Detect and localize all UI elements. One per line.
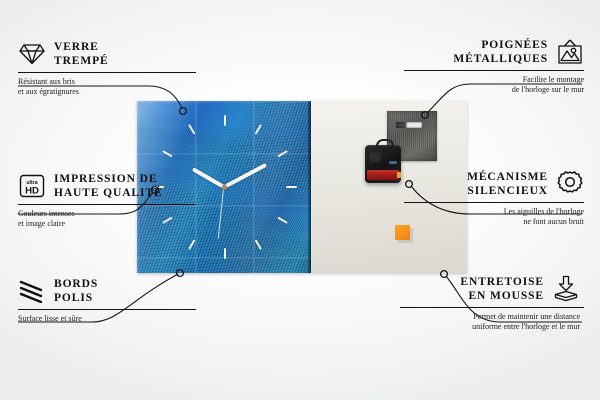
- mechanism-panel-detail: [370, 153, 381, 162]
- foam-spacer-arrow-icon: [552, 275, 580, 303]
- feature-header: POIGNÉES MÉTALLIQUES: [404, 38, 584, 66]
- gear-icon: [556, 170, 584, 198]
- feature-divider: [400, 307, 584, 308]
- feature-verre-trempe: VERRE TREMPÉ Résistant aux bris et aux é…: [18, 40, 198, 98]
- feature-poignees-metalliques: POIGNÉES MÉTALLIQUES Facilite le montage…: [404, 38, 584, 96]
- hour-tick: [188, 124, 195, 135]
- feature-impression-haute-qualite: ultra HD IMPRESSION DE HAUTE QUALITÉ Cou…: [18, 172, 198, 230]
- hour-tick: [277, 150, 288, 157]
- feature-title: POIGNÉES MÉTALLIQUES: [453, 38, 548, 66]
- feature-title: VERRE TREMPÉ: [54, 40, 109, 68]
- polished-edges-icon: [18, 277, 46, 305]
- hour-tick: [224, 115, 226, 126]
- battery-terminal: [397, 172, 401, 178]
- ultra-hd-badge-icon: ultra HD: [18, 172, 46, 200]
- feature-title: MÉCANISME SILENCIEUX: [467, 170, 548, 198]
- feature-title: BORDS POLIS: [54, 277, 98, 305]
- infographic-canvas: VERRE TREMPÉ Résistant aux bris et aux é…: [0, 0, 600, 400]
- battery: [367, 170, 399, 180]
- feature-divider: [18, 72, 196, 73]
- svg-text:HD: HD: [25, 186, 39, 197]
- feature-title: IMPRESSION DE HAUTE QUALITÉ: [54, 172, 163, 200]
- feature-divider: [18, 204, 196, 205]
- hour-tick: [277, 217, 288, 224]
- feature-subtitle: Facilite le montage de l'horloge sur le …: [404, 75, 584, 96]
- feature-header: MÉCANISME SILENCIEUX: [404, 170, 584, 198]
- hour-tick: [286, 186, 297, 188]
- feature-bords-polis: BORDS POLIS Surface lisse et sûre: [18, 277, 198, 324]
- hour-tick: [188, 239, 195, 250]
- feature-header: ENTRETOISE EN MOUSSE: [400, 275, 580, 303]
- hour-tick: [255, 239, 262, 250]
- clock-center-cap: [222, 185, 227, 190]
- feature-header: ultra HD IMPRESSION DE HAUTE QUALITÉ: [18, 172, 198, 200]
- clock-mechanism-box: [365, 145, 401, 183]
- feature-mecanisme-silencieux: MÉCANISME SILENCIEUX Les aiguilles de l'…: [404, 170, 584, 228]
- hanger-keyhole-slot: [396, 122, 422, 128]
- wall-hanger-frame-icon: [556, 38, 584, 66]
- feature-divider: [404, 202, 584, 203]
- feature-subtitle: Les aiguilles de l'horloge ne font aucun…: [404, 207, 584, 228]
- hour-tick: [255, 124, 262, 135]
- feature-title: ENTRETOISE EN MOUSSE: [460, 275, 544, 303]
- feature-subtitle: Couleurs intenses et image claire: [18, 209, 198, 230]
- feature-subtitle: Résistant aux bris et aux égratignures: [18, 77, 198, 98]
- hour-tick: [224, 248, 226, 259]
- feature-subtitle: Permet de maintenir une distance uniform…: [400, 312, 580, 333]
- mechanism-hanging-loop: [376, 139, 394, 150]
- feature-header: BORDS POLIS: [18, 277, 198, 305]
- diamond-icon: [18, 40, 46, 68]
- feature-divider: [18, 309, 196, 310]
- feature-entretoise-en-mousse: ENTRETOISE EN MOUSSE Permet de maintenir…: [400, 275, 580, 333]
- feature-subtitle: Surface lisse et sûre: [18, 314, 198, 324]
- clock-minute-hand: [223, 163, 267, 189]
- feature-header: VERRE TREMPÉ: [18, 40, 198, 68]
- feature-divider: [404, 70, 584, 71]
- clock-second-hand: [218, 187, 225, 239]
- mechanism-contact-strip: [389, 161, 397, 164]
- hour-tick: [162, 150, 173, 157]
